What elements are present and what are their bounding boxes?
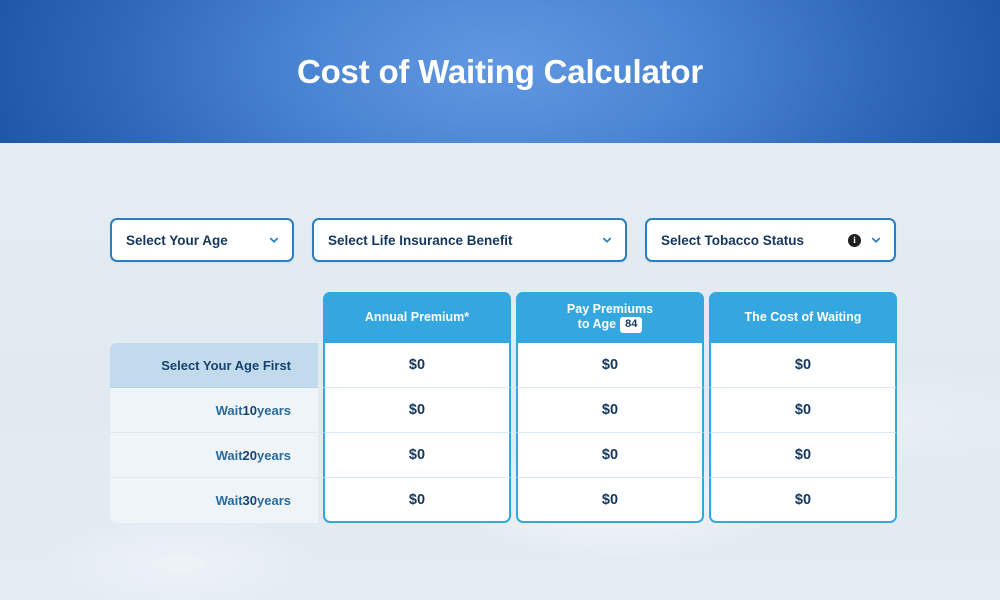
row-label-suffix: years bbox=[257, 493, 291, 508]
table-cell-annual-premium: $0 bbox=[323, 343, 511, 388]
page-title: Cost of Waiting Calculator bbox=[297, 53, 703, 91]
table-cell-annual-premium: $0 bbox=[323, 478, 511, 523]
table-cell-annual-premium: $0 bbox=[323, 433, 511, 478]
table-cell-cost-of-waiting: $0 bbox=[709, 388, 897, 433]
column-header-cost-of-waiting: The Cost of Waiting bbox=[709, 292, 897, 343]
column-header-line1: Annual Premium* bbox=[365, 310, 469, 326]
results-grid: Annual Premium* Pay Premiums to Age84 Th… bbox=[110, 292, 893, 523]
column-header-line2: to Age bbox=[578, 317, 616, 331]
column-header-annual-premium: Annual Premium* bbox=[323, 292, 511, 343]
table-row-label: Wait 20 years bbox=[110, 433, 318, 478]
row-label-number: 20 bbox=[243, 448, 257, 463]
column-header-line1: Pay Premiums bbox=[567, 302, 653, 318]
row-label-suffix: years bbox=[257, 448, 291, 463]
table-cell-pay-premiums: $0 bbox=[516, 478, 704, 523]
chevron-down-icon bbox=[602, 235, 612, 245]
row-label-prefix: Wait bbox=[216, 448, 243, 463]
table-row-label: Wait 30 years bbox=[110, 478, 318, 523]
table-cell-cost-of-waiting: $0 bbox=[709, 478, 897, 523]
table-corner-spacer bbox=[110, 292, 318, 343]
table-row-label: Wait 10 years bbox=[110, 388, 318, 433]
row-label-number: 30 bbox=[243, 493, 257, 508]
select-life-insurance-benefit-dropdown[interactable]: Select Life Insurance Benefit bbox=[312, 218, 627, 262]
row-label-suffix: years bbox=[257, 403, 291, 418]
chevron-down-icon bbox=[871, 235, 881, 245]
table-cell-cost-of-waiting: $0 bbox=[709, 343, 897, 388]
results-table: Annual Premium* Pay Premiums to Age84 Th… bbox=[110, 292, 893, 523]
column-header-line1: The Cost of Waiting bbox=[745, 310, 862, 326]
row-label-number: 10 bbox=[243, 403, 257, 418]
table-cell-cost-of-waiting: $0 bbox=[709, 433, 897, 478]
row-label-prefix: Wait bbox=[216, 493, 243, 508]
table-cell-pay-premiums: $0 bbox=[516, 343, 704, 388]
select-your-age-label: Select Your Age bbox=[126, 233, 269, 248]
select-life-insurance-benefit-label: Select Life Insurance Benefit bbox=[328, 233, 602, 248]
row-label-prefix: Select Your Age First bbox=[161, 358, 291, 373]
row-label-prefix: Wait bbox=[216, 403, 243, 418]
table-row-label: Select Your Age First bbox=[110, 343, 318, 388]
table-cell-annual-premium: $0 bbox=[323, 388, 511, 433]
column-header-line2-wrap: to Age84 bbox=[578, 317, 643, 333]
selector-row: Select Your Age Select Life Insurance Be… bbox=[110, 218, 896, 262]
info-icon[interactable]: i bbox=[848, 234, 861, 247]
table-cell-pay-premiums: $0 bbox=[516, 388, 704, 433]
select-tobacco-status-label: Select Tobacco Status bbox=[661, 233, 848, 248]
select-your-age-dropdown[interactable]: Select Your Age bbox=[110, 218, 294, 262]
chevron-down-icon bbox=[269, 235, 279, 245]
column-header-pay-premiums-to-age: Pay Premiums to Age84 bbox=[516, 292, 704, 343]
table-cell-pay-premiums: $0 bbox=[516, 433, 704, 478]
select-tobacco-status-dropdown[interactable]: Select Tobacco Status i bbox=[645, 218, 896, 262]
pay-to-age-badge: 84 bbox=[620, 317, 642, 333]
page-header: Cost of Waiting Calculator bbox=[0, 0, 1000, 143]
